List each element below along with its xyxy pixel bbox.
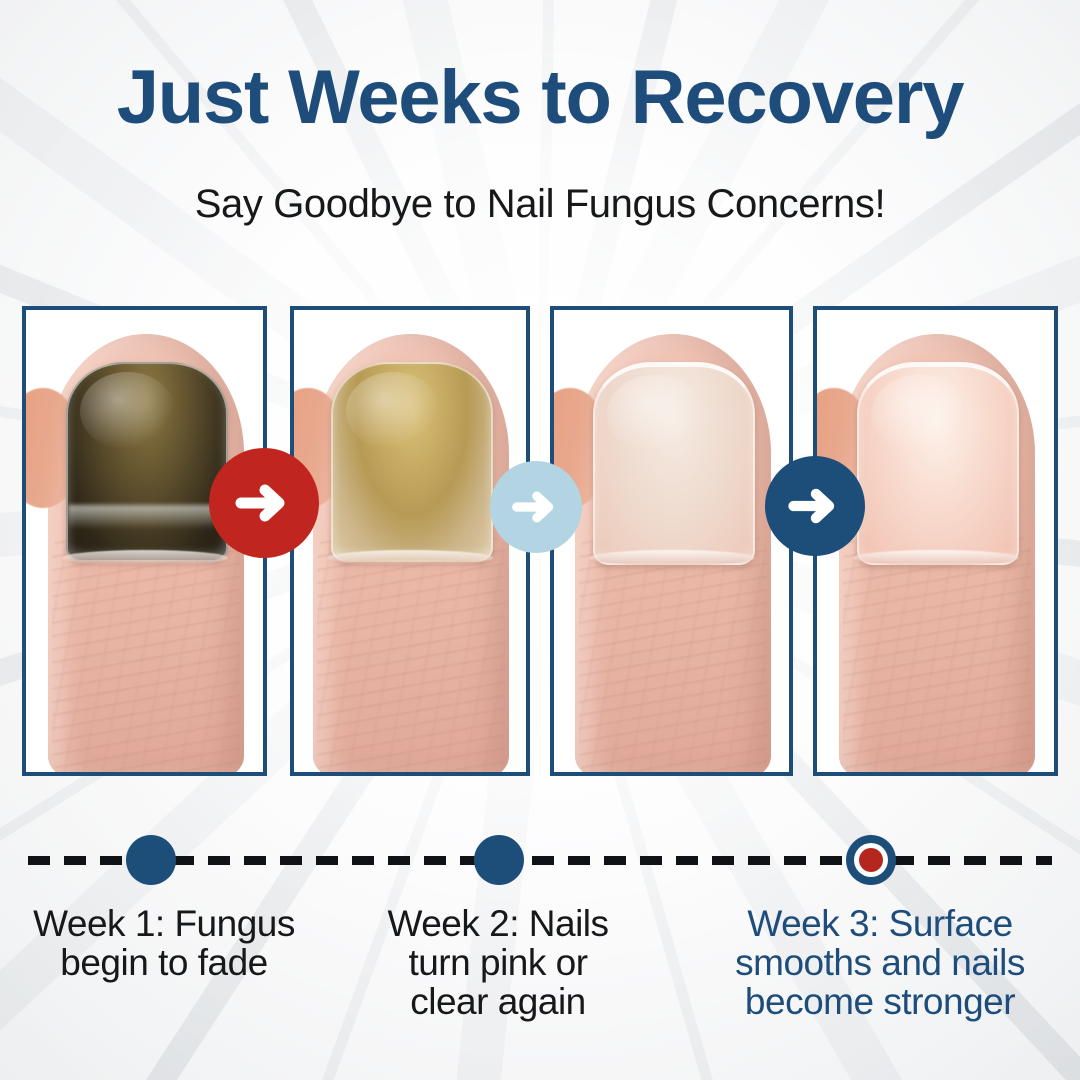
skin-creases	[52, 533, 240, 776]
caption-week-3-line-2: smooths and nails	[700, 944, 1060, 983]
page-title: Just Weeks to Recovery	[0, 60, 1080, 136]
timeline-dashed-line	[28, 856, 1052, 865]
page-subtitle: Say Goodbye to Nail Fungus Concerns!	[0, 182, 1080, 226]
cuticle-line	[853, 550, 1019, 566]
skin-creases	[317, 533, 505, 776]
toenail-surface	[66, 362, 228, 562]
caption-week-3-line-1: Week 3: Surface	[700, 905, 1060, 944]
caption-week-1: Week 1: Fungus begin to fade	[14, 905, 314, 983]
toenail-surface	[331, 362, 493, 562]
skin-creases	[843, 533, 1031, 776]
cuticle-line	[62, 550, 228, 566]
toe-photo-stage-3	[554, 310, 789, 772]
toe-photo-stage-2	[294, 310, 526, 772]
caption-week-3: Week 3: Surface smooths and nails become…	[700, 905, 1060, 1022]
caption-week-3-line-3: become stronger	[700, 983, 1060, 1022]
poster-canvas: Just Weeks to Recovery Say Goodbye to Na…	[0, 0, 1080, 1080]
caption-row: Week 1: Fungus begin to fade Week 2: Nai…	[0, 905, 1080, 1065]
timeline-dot-week-2[interactable]	[474, 835, 524, 885]
adjacent-toe	[22, 388, 72, 508]
progress-timeline	[0, 830, 1080, 892]
photo-panel-week-1	[290, 306, 530, 776]
toenail-surface	[857, 362, 1019, 565]
cuticle-line	[327, 550, 493, 566]
caption-week-2-line-2: turn pink or	[348, 944, 648, 983]
caption-week-2-line-1: Week 2: Nails	[348, 905, 648, 944]
timeline-dot-week-1[interactable]	[126, 835, 176, 885]
caption-week-1-line-2: begin to fade	[14, 944, 314, 983]
toe-photo-stage-4	[817, 310, 1054, 772]
timeline-dot-week-3[interactable]	[846, 835, 896, 885]
caption-week-2: Week 2: Nails turn pink or clear again	[348, 905, 648, 1022]
cuticle-line	[589, 550, 755, 566]
toenail-surface	[593, 362, 755, 565]
skin-creases	[579, 533, 767, 776]
photo-panel-week-2	[550, 306, 793, 776]
arrow-right-icon-1	[209, 448, 319, 558]
progress-photo-strip	[0, 306, 1080, 776]
caption-week-2-line-3: clear again	[348, 983, 648, 1022]
caption-week-1-line-1: Week 1: Fungus	[14, 905, 314, 944]
arrow-right-icon-3	[765, 456, 865, 556]
arrow-right-icon-2	[490, 461, 582, 553]
